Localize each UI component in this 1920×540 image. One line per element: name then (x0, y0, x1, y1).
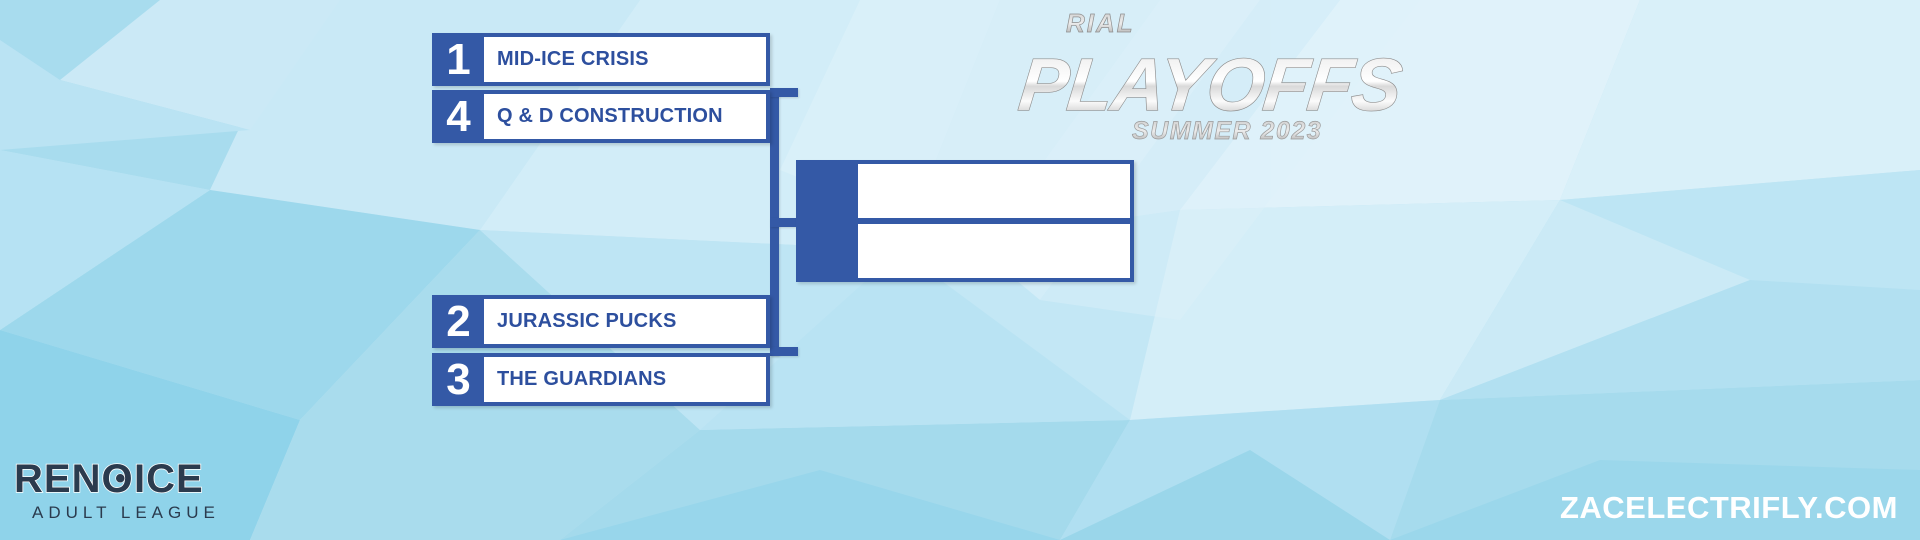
seed-number-2: 2 (432, 295, 484, 348)
final-seed-number (796, 160, 858, 282)
team-name-1: MID-ICE CRISIS (484, 37, 766, 82)
playoff-bracket: 1 MID-ICE CRISIS 4 Q & D CONSTRUCTION 2 … (0, 0, 1920, 540)
bracket-seed-row-1[interactable]: 1 MID-ICE CRISIS (432, 33, 770, 86)
logo-line1-right: ICE (134, 457, 204, 501)
bracket-seed-row-4[interactable]: 3 THE GUARDIANS (432, 353, 770, 406)
bracket-final-block[interactable] (796, 160, 1134, 282)
final-team-slot-1[interactable] (858, 164, 1130, 218)
logo-line2: ADULT LEAGUE (32, 503, 220, 522)
seed-number-4: 4 (432, 90, 484, 143)
team-name-4: Q & D CONSTRUCTION (484, 94, 766, 139)
seed-number-3: 3 (432, 353, 484, 406)
team-name-2: JURASSIC PUCKS (484, 299, 766, 344)
watermark-url: ZACELECTRIFLY.COM (1560, 490, 1898, 526)
logo-line1-dot: • (115, 462, 126, 495)
seed-number-1: 1 (432, 33, 484, 86)
connector-top-horizontal (770, 88, 798, 97)
reno-ice-adult-league-logo: RENO • ICE ADULT LEAGUE (8, 448, 228, 532)
bracket-seed-row-3[interactable]: 2 JURASSIC PUCKS (432, 295, 770, 348)
bracket-seed-row-2[interactable]: 4 Q & D CONSTRUCTION (432, 90, 770, 143)
team-name-3: THE GUARDIANS (484, 357, 766, 402)
final-team-slot-2[interactable] (858, 224, 1130, 278)
connector-bottom-horizontal (770, 347, 798, 356)
